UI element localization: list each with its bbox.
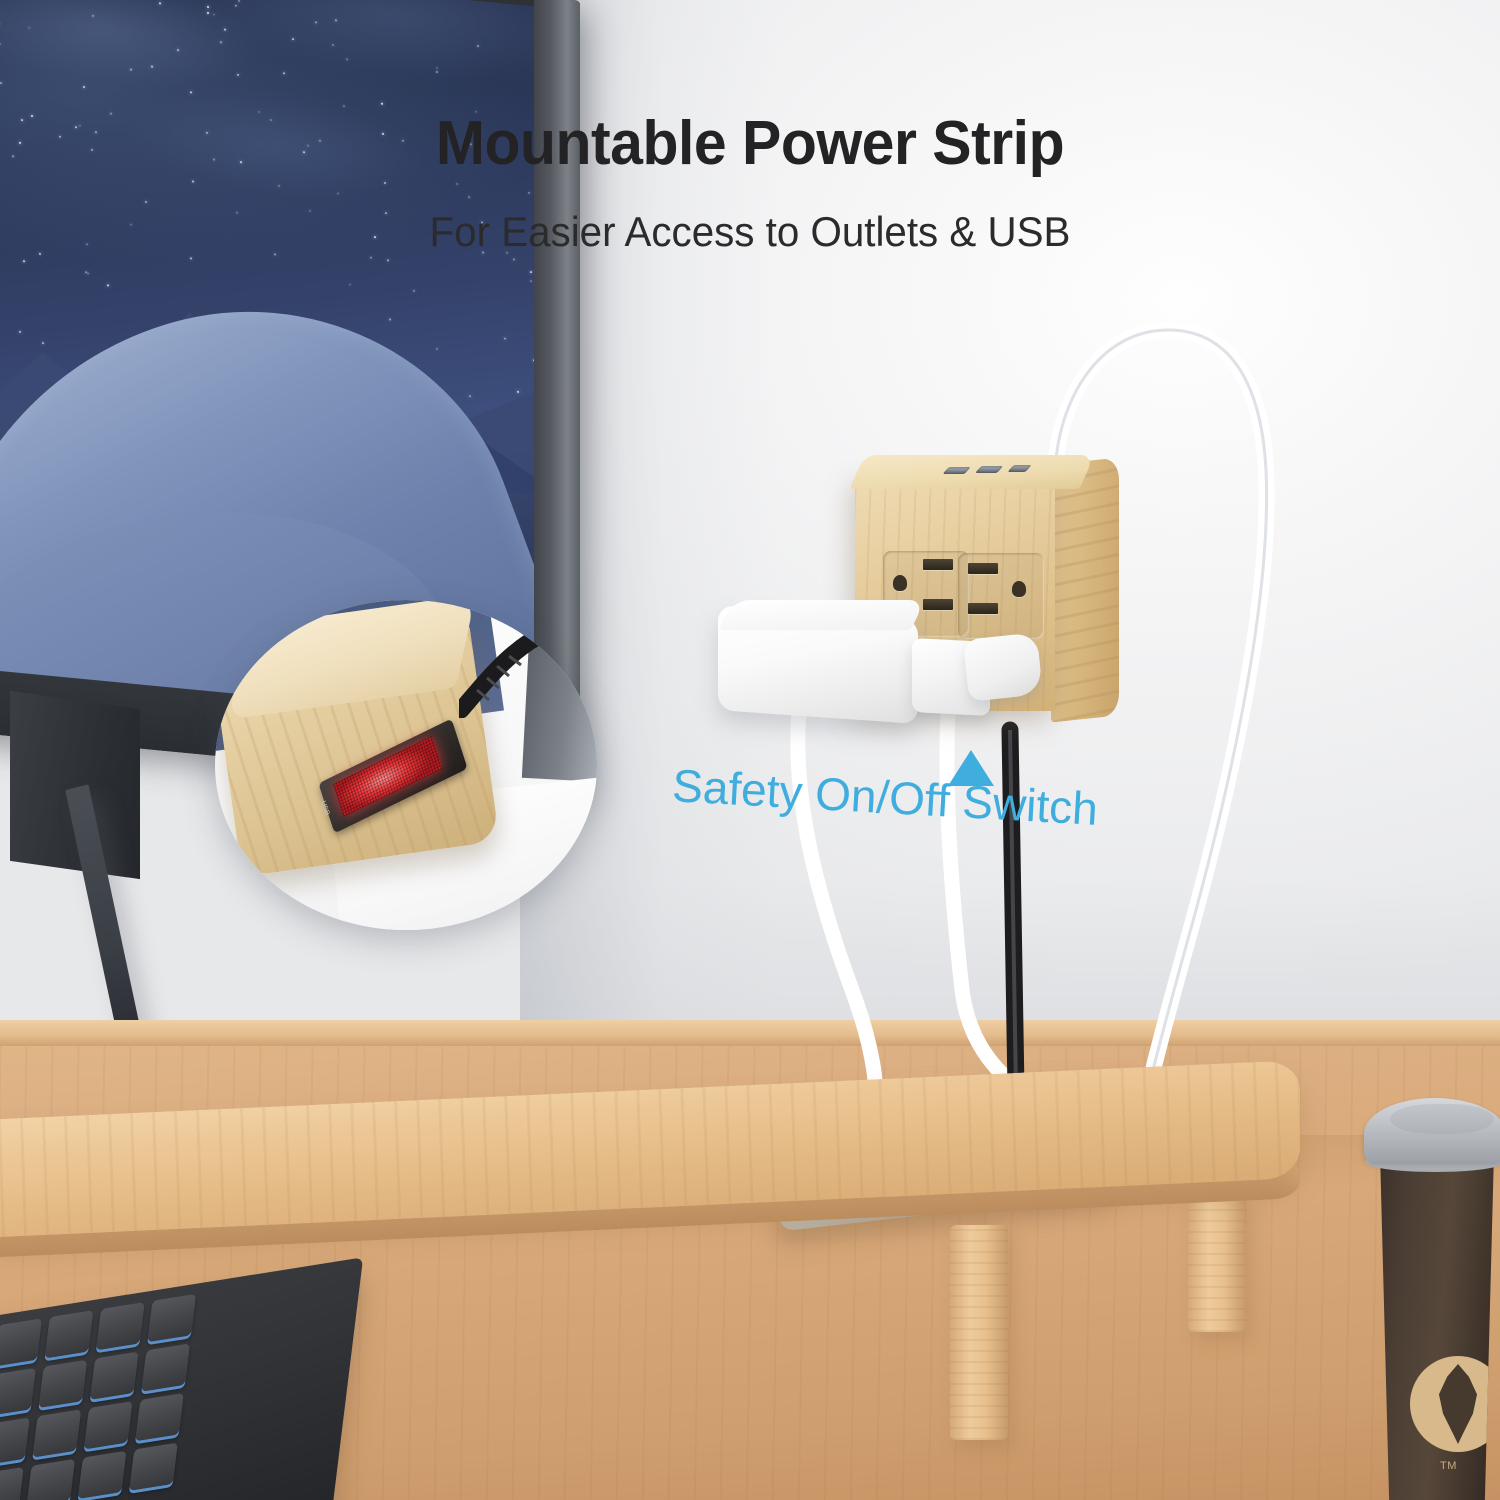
usb-port-2[interactable]	[975, 466, 1003, 473]
desk-edge	[0, 1020, 1500, 1046]
keyboard-key[interactable]	[129, 1443, 178, 1491]
keyboard-key[interactable]	[135, 1393, 184, 1441]
coffee-cup: TM	[1358, 1098, 1500, 1500]
white-power-adapter-top	[719, 600, 926, 630]
riser-leg-left	[950, 1225, 1008, 1440]
outlet-1-slot-a	[923, 559, 953, 570]
keyboard-key[interactable]	[39, 1360, 88, 1408]
keyboard-key[interactable]	[141, 1343, 190, 1391]
keyboard-key[interactable]	[90, 1352, 139, 1400]
keyboard-key[interactable]	[0, 1467, 24, 1500]
coffee-cup-lid-inner	[1390, 1104, 1494, 1134]
inset-black-cord	[459, 618, 569, 718]
page-title: Mountable Power Strip	[38, 108, 1463, 179]
monitor-stand-neck	[10, 691, 140, 879]
outlet-1-slot-b	[923, 599, 953, 610]
outlet-2-slot-a	[968, 563, 998, 574]
siren-logo	[1410, 1356, 1500, 1452]
keyboard-key[interactable]	[78, 1451, 127, 1499]
keyboard-key[interactable]	[84, 1401, 133, 1449]
keyboard-key[interactable]	[45, 1310, 94, 1358]
power-strip-side	[1051, 457, 1119, 722]
usb-port-1[interactable]	[943, 467, 971, 474]
outlet-2[interactable]	[968, 561, 1034, 631]
keyboard-key[interactable]	[0, 1368, 36, 1416]
keyboard-key[interactable]	[26, 1459, 75, 1500]
outlet-2-slot-b	[968, 603, 998, 614]
riser-leg-right	[1188, 1192, 1246, 1332]
keyboard-key[interactable]	[96, 1302, 145, 1350]
coffee-cup-lid	[1364, 1098, 1500, 1162]
product-marketing-image: USB Wednesday, September 4 9:41	[0, 0, 1500, 1500]
usb-port-3[interactable]	[1007, 465, 1031, 472]
coffee-cup-body: TM	[1374, 1164, 1500, 1500]
outlet-2-ground	[1012, 581, 1026, 597]
keyboard-key[interactable]	[147, 1294, 196, 1342]
keyboard-key[interactable]	[0, 1417, 30, 1465]
keyboard-key[interactable]	[33, 1409, 82, 1457]
power-strip-top	[849, 455, 1094, 489]
coffee-cup-trademark: TM	[1440, 1460, 1457, 1472]
magnified-switch-detail: USB	[215, 600, 597, 930]
keyboard-key[interactable]	[0, 1318, 42, 1366]
page-subtitle: For Easier Access to Outlets & USB	[30, 208, 1470, 256]
outlet-1-ground	[893, 575, 907, 591]
